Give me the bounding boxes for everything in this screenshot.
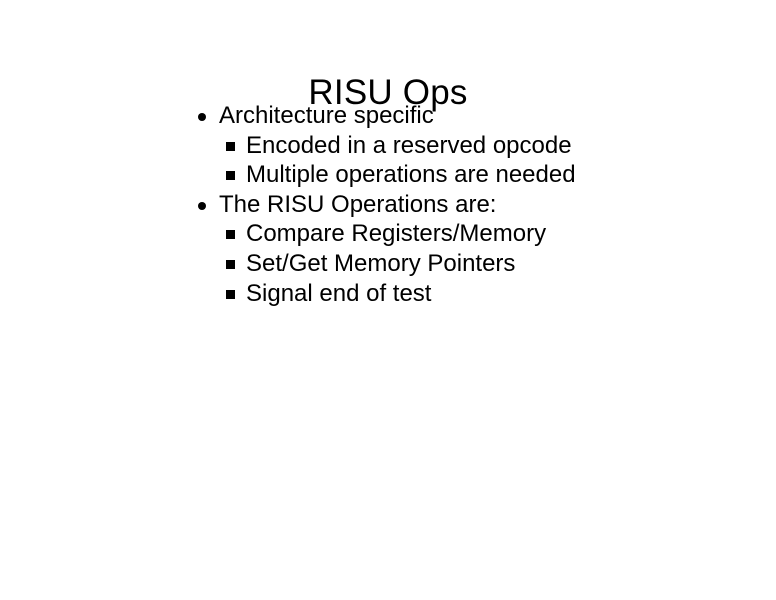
square-bullet-icon <box>226 142 235 151</box>
list-item: Multiple operations are needed <box>0 160 776 190</box>
disc-bullet-icon <box>198 113 206 121</box>
square-bullet-icon <box>226 171 235 180</box>
list-item: Architecture specific <box>0 101 776 131</box>
square-bullet-icon <box>226 230 235 239</box>
list-item: The RISU Operations are: <box>0 190 776 220</box>
list-item: Set/Get Memory Pointers <box>0 249 776 279</box>
square-bullet-icon <box>226 290 235 299</box>
list-item: Compare Registers/Memory <box>0 219 776 249</box>
disc-bullet-icon <box>198 202 206 210</box>
list-item-label: Compare Registers/Memory <box>246 219 546 249</box>
square-bullet-icon <box>226 260 235 269</box>
list-item-label: The RISU Operations are: <box>219 190 496 220</box>
list-item-label: Signal end of test <box>246 279 431 309</box>
list-item: Encoded in a reserved opcode <box>0 131 776 161</box>
list-item-label: Set/Get Memory Pointers <box>246 249 515 279</box>
list-item-label: Architecture specific <box>219 101 434 131</box>
list-item: Signal end of test <box>0 279 776 309</box>
slide-canvas: RISU Ops Architecture specific Encoded i… <box>0 0 776 600</box>
bullet-list: Architecture specific Encoded in a reser… <box>0 101 776 308</box>
list-item-label: Multiple operations are needed <box>246 160 576 190</box>
list-item-label: Encoded in a reserved opcode <box>246 131 572 161</box>
